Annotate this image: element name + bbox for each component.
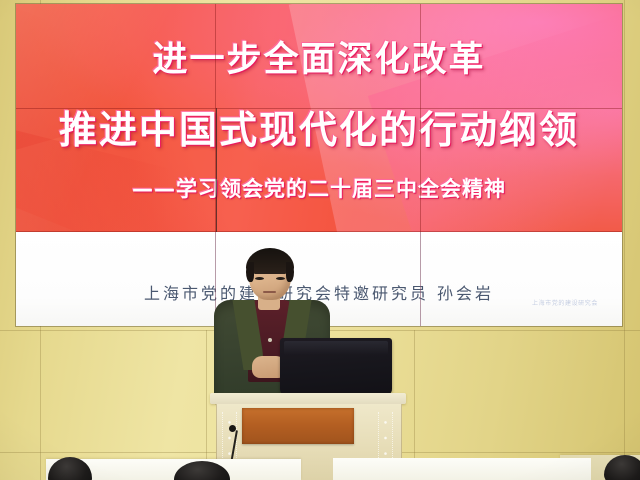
led-panel-seam (420, 232, 421, 326)
lecture-room-photo: 上海市党的建设研究会 进一步全面深化改革 推进中国式现代化的行动纲领 ——学习领… (0, 0, 640, 480)
slide-subtitle: ——学习领会党的二十届三中全会精神 (16, 176, 622, 202)
led-panel-seam (216, 108, 217, 232)
wall-panel-seam (624, 0, 625, 480)
podium-wood-panel (242, 408, 354, 444)
speaker-eyebrow-left (254, 272, 265, 274)
speaker-hair-side-left (246, 262, 254, 282)
speaker-jacket-button (268, 338, 272, 342)
wall-panel-seam (414, 330, 415, 480)
podium-monitor (280, 338, 392, 396)
podium-top-surface (210, 393, 406, 404)
speaker-eyebrow-right (275, 272, 286, 274)
led-panel-seam (16, 231, 622, 232)
speaker-eye-right (276, 277, 285, 280)
podium-diamond-ornament (378, 412, 393, 464)
slide-text-block: 进一步全面深化改革 推进中国式现代化的行动纲领 ——学习领会党的二十届三中全会精… (16, 4, 622, 232)
speaker-mouth (263, 291, 276, 293)
microphone-icon (229, 425, 236, 432)
speaker-hair-side-right (286, 262, 294, 282)
led-video-wall: 上海市党的建设研究会 进一步全面深化改革 推进中国式现代化的行动纲领 ——学习领… (16, 4, 622, 326)
slide-title-line-2: 推进中国式现代化的行动纲领 (16, 108, 622, 152)
wall-panel-seam (206, 330, 207, 480)
speaker-eye-left (255, 277, 264, 280)
led-panel-seam (16, 108, 622, 109)
audience-table (333, 458, 591, 480)
slide-title-line-1: 进一步全面深化改革 (16, 40, 622, 80)
